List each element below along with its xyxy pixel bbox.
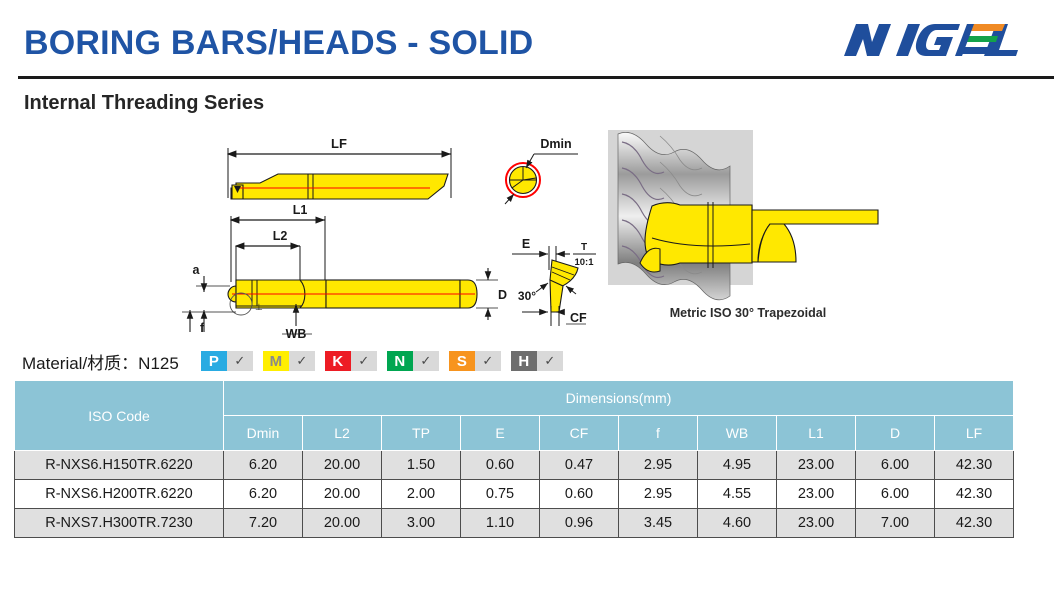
col-header-d: D — [856, 416, 935, 451]
drawing-dmin-detail: Dmin — [505, 137, 578, 204]
cell-l2: 20.00 — [303, 451, 382, 480]
page-header: BORING BARS/HEADS - SOLID Int — [0, 0, 1060, 80]
material-check-m: ✓ — [289, 351, 315, 371]
cell-cf: 0.96 — [540, 509, 619, 538]
cell-d: 7.00 — [856, 509, 935, 538]
col-header-e: E — [461, 416, 540, 451]
cell-cf: 0.60 — [540, 480, 619, 509]
thread-illustration — [608, 130, 878, 300]
cell-e: 0.75 — [461, 480, 540, 509]
cell-cf: 0.47 — [540, 451, 619, 480]
cell-lf: 42.30 — [935, 451, 1014, 480]
drawing-insert-detail: E T 10:1 30° CF — [512, 237, 596, 326]
cell-tp: 1.50 — [382, 451, 461, 480]
table-row[interactable]: R-NXS6.H200TR.6220 6.20 20.00 2.00 0.75 … — [15, 480, 1014, 509]
material-bar: Material/材质：N125 P ✓ M ✓ K ✓ N ✓ S ✓ H ✓ — [22, 350, 573, 372]
cell-lf: 42.30 — [935, 480, 1014, 509]
cell-l2: 20.00 — [303, 509, 382, 538]
technical-drawings: LF L1 L2 — [0, 120, 1060, 338]
cell-l1: 23.00 — [777, 451, 856, 480]
cell-l1: 23.00 — [777, 480, 856, 509]
material-letter-p: P — [201, 351, 227, 371]
col-header-l2: L2 — [303, 416, 382, 451]
material-letter-h: H — [511, 351, 537, 371]
specification-table: ISO Code Dimensions(mm) Dmin L2 TP E CF … — [14, 380, 1014, 538]
cell-tp: 2.00 — [382, 480, 461, 509]
col-header-dimensions: Dimensions(mm) — [224, 381, 1014, 416]
header-divider — [18, 76, 1054, 79]
cell-wb: 4.55 — [698, 480, 777, 509]
page-title: BORING BARS/HEADS - SOLID — [24, 24, 533, 63]
material-check-s: ✓ — [475, 351, 501, 371]
col-header-f: f — [619, 416, 698, 451]
cell-f: 2.95 — [619, 480, 698, 509]
label-wb: WB — [286, 327, 307, 338]
label-d: D — [498, 288, 507, 302]
cell-dmin: 7.20 — [224, 509, 303, 538]
material-letter-k: K — [325, 351, 351, 371]
cell-dmin: 6.20 — [224, 480, 303, 509]
label-e: E — [522, 237, 530, 251]
table-header: ISO Code Dimensions(mm) Dmin L2 TP E CF … — [15, 381, 1014, 451]
col-header-cf: CF — [540, 416, 619, 451]
table-row[interactable]: R-NXS7.H300TR.7230 7.20 20.00 3.00 1.10 … — [15, 509, 1014, 538]
cell-l1: 23.00 — [777, 509, 856, 538]
drawing-top-view: LF — [228, 136, 451, 199]
material-chip-k[interactable]: K ✓ — [325, 351, 377, 371]
material-letter-n: N — [387, 351, 413, 371]
cell-wb: 4.60 — [698, 509, 777, 538]
material-check-h: ✓ — [537, 351, 563, 371]
material-letter-m: M — [263, 351, 289, 371]
label-t: T — [581, 242, 587, 253]
cell-lf: 42.30 — [935, 509, 1014, 538]
col-header-l1: L1 — [777, 416, 856, 451]
cell-d: 6.00 — [856, 480, 935, 509]
label-a: a — [193, 263, 201, 277]
material-chip-s[interactable]: S ✓ — [449, 351, 501, 371]
col-header-tp: TP — [382, 416, 461, 451]
material-check-n: ✓ — [413, 351, 439, 371]
material-chip-h[interactable]: H ✓ — [511, 351, 563, 371]
material-label: Material/材质：N125 — [22, 349, 179, 374]
label-l2: L2 — [273, 229, 288, 243]
cell-iso-code: R-NXS7.H300TR.7230 — [15, 509, 224, 538]
cell-f: 2.95 — [619, 451, 698, 480]
cell-iso-code: R-NXS6.H150TR.6220 — [15, 451, 224, 480]
cell-tp: 3.00 — [382, 509, 461, 538]
tool-dimension-drawing: LF L1 L2 — [0, 120, 1060, 338]
col-header-wb: WB — [698, 416, 777, 451]
material-chip-n[interactable]: N ✓ — [387, 351, 439, 371]
col-header-iso-code: ISO Code — [15, 381, 224, 451]
table-header-row-1: ISO Code Dimensions(mm) — [15, 381, 1014, 416]
material-check-p: ✓ — [227, 351, 253, 371]
material-chip-p[interactable]: P ✓ — [201, 351, 253, 371]
cell-l2: 20.00 — [303, 480, 382, 509]
nigel-logo — [834, 14, 1046, 66]
material-check-k: ✓ — [351, 351, 377, 371]
col-header-lf: LF — [935, 416, 1014, 451]
drawing-side-view: L1 L2 ⊥ a f — [182, 203, 507, 338]
col-header-dmin: Dmin — [224, 416, 303, 451]
cell-e: 0.60 — [461, 451, 540, 480]
cell-wb: 4.95 — [698, 451, 777, 480]
table-body: R-NXS6.H150TR.6220 6.20 20.00 1.50 0.60 … — [15, 451, 1014, 538]
material-chip-m[interactable]: M ✓ — [263, 351, 315, 371]
material-letter-s: S — [449, 351, 475, 371]
label-t-small: ⊥ — [255, 302, 263, 312]
label-ratio: 10:1 — [574, 257, 594, 268]
cell-f: 3.45 — [619, 509, 698, 538]
table-row[interactable]: R-NXS6.H150TR.6220 6.20 20.00 1.50 0.60 … — [15, 451, 1014, 480]
cell-iso-code: R-NXS6.H200TR.6220 — [15, 480, 224, 509]
label-lf: LF — [331, 136, 347, 151]
label-angle: 30° — [518, 289, 536, 303]
cell-d: 6.00 — [856, 451, 935, 480]
thread-caption: Metric ISO 30° Trapezoidal — [598, 306, 898, 320]
label-dmin: Dmin — [540, 137, 571, 151]
label-cf: CF — [570, 311, 587, 325]
logo-icon — [834, 14, 1046, 66]
cell-e: 1.10 — [461, 509, 540, 538]
cell-dmin: 6.20 — [224, 451, 303, 480]
label-l1: L1 — [293, 203, 308, 217]
page-subtitle: Internal Threading Series — [24, 92, 264, 115]
